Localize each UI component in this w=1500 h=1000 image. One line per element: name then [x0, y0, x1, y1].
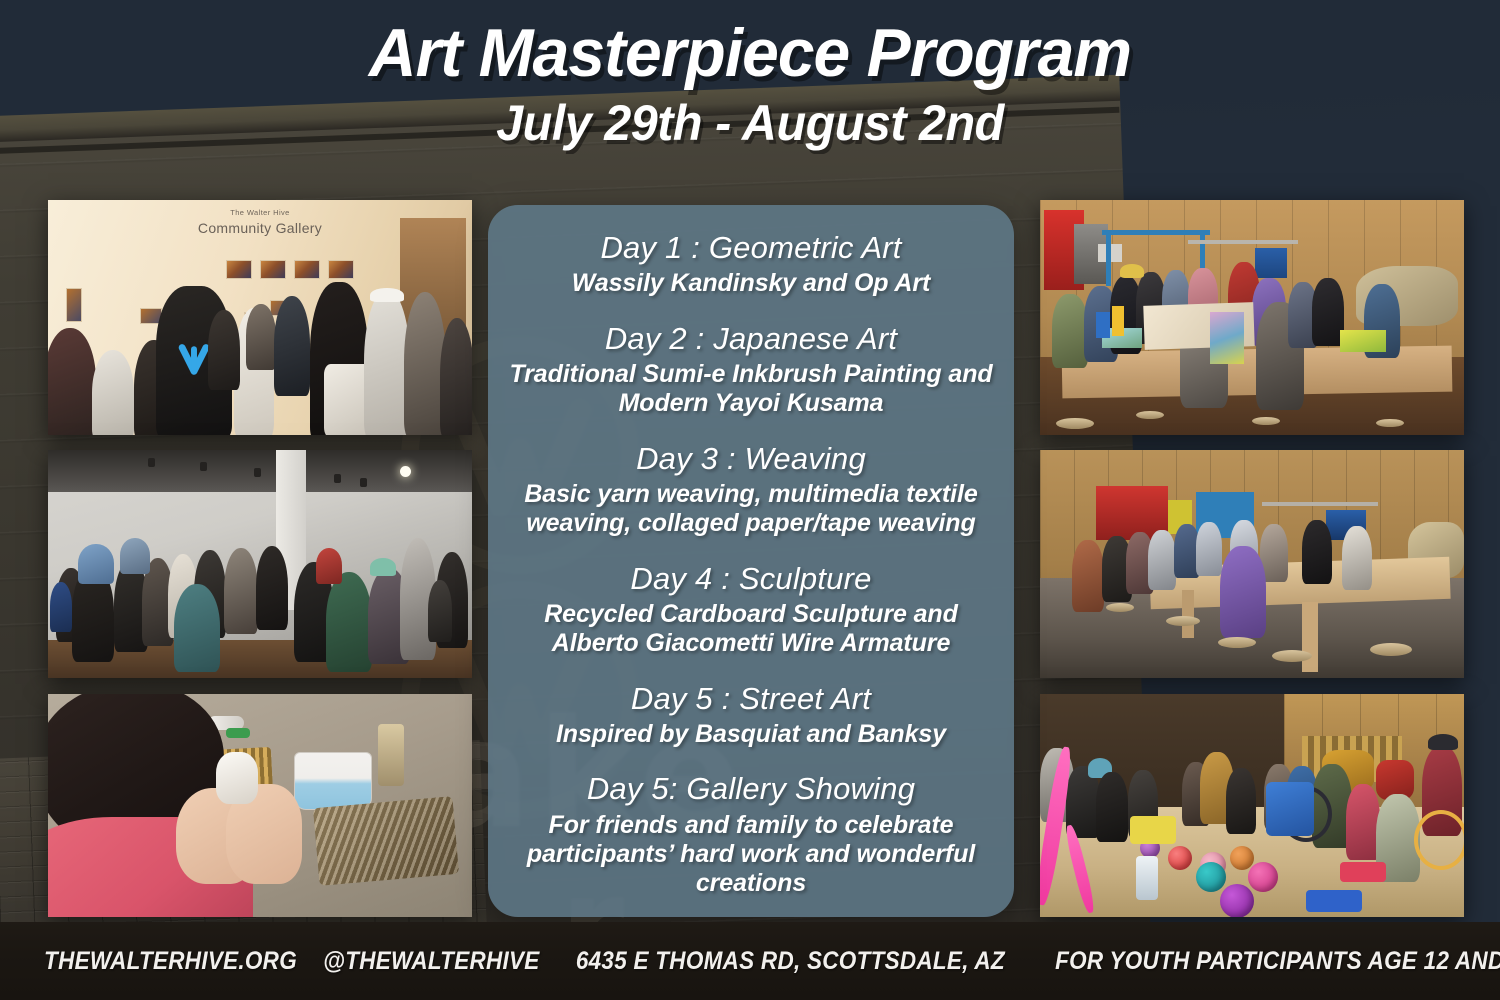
- teens-table-leg: [1302, 602, 1318, 672]
- day-1-title: Day 1 : Geometric Art: [506, 229, 996, 267]
- photo-crafting: [48, 694, 472, 917]
- crowd-person: [274, 296, 310, 396]
- kids-red-paper: [1340, 862, 1386, 882]
- day-6-description: For friends and family to celebrate part…: [506, 811, 996, 899]
- crowd-person: [246, 304, 276, 370]
- workshop-tool-chest: [1255, 248, 1287, 278]
- teens-stool: [1166, 616, 1200, 626]
- photo-teens-table: [1040, 450, 1464, 678]
- schedule-day-3: Day 3 : Weaving Basic yarn weaving, mult…: [506, 440, 996, 539]
- yarn-ball: [1248, 862, 1278, 892]
- day-3-description: Basic yarn weaving, multimedia textile w…: [506, 480, 996, 539]
- crowd-person: [208, 310, 240, 390]
- workshop-stool: [1136, 411, 1164, 419]
- audience-child: [50, 582, 72, 632]
- photo-gallery-opening: The Walter Hive Community Gallery: [48, 200, 472, 435]
- footer-bar: THEWALTERHIVE.ORG @THEWALTERHIVE 6435 E …: [0, 922, 1500, 1000]
- audience-person-headwrap: [370, 558, 396, 576]
- gallery-artwork-row: [226, 260, 354, 279]
- track-light: [360, 478, 367, 487]
- workshop-paint-bottle: [1096, 312, 1110, 338]
- white-cap: [370, 288, 404, 302]
- workshop-stool: [1252, 417, 1280, 425]
- audience-person: [78, 544, 114, 584]
- craft-plaster-bucket: [294, 752, 372, 810]
- teens-participant-purple-shirt: [1220, 546, 1266, 638]
- teens-participant: [1302, 520, 1332, 584]
- day-2-title: Day 2 : Japanese Art: [506, 320, 996, 358]
- footer-social-handle[interactable]: @THEWALTERHIVE: [323, 947, 540, 976]
- workshop-stool: [1376, 419, 1404, 427]
- track-light: [200, 462, 207, 471]
- workshop-tool-rail: [1188, 240, 1298, 244]
- photo-painting-workshop: [1040, 200, 1464, 435]
- crowd-person: [92, 350, 134, 435]
- teens-participant: [1342, 526, 1372, 590]
- craft-clay-piece: [216, 752, 258, 804]
- schedule-day-4: Day 4 : Sculpture Recycled Cardboard Scu…: [506, 560, 996, 659]
- track-light: [334, 474, 341, 483]
- workshop-painting: [1340, 330, 1386, 352]
- day-1-description: Wassily Kandinsky and Op Art: [506, 269, 996, 298]
- audience-person: [120, 538, 150, 574]
- schedule-day-6-gallery-showing: Day 5: Gallery Showing For friends and f…: [506, 770, 996, 898]
- kids-adult-cap: [1428, 734, 1458, 750]
- footer-age-requirement: FOR YOUTH PARTICIPANTS AGE 12 AND UP: [1056, 947, 1500, 976]
- embroidery-hoop: [1414, 810, 1464, 870]
- day-3-title: Day 3 : Weaving: [506, 440, 996, 478]
- yarn-ball: [1196, 862, 1226, 892]
- crowd-person: [440, 318, 472, 435]
- schedule-day-5: Day 5 : Street Art Inspired by Basquiat …: [506, 680, 996, 750]
- teens-participant: [1196, 522, 1222, 576]
- yarn-ball: [1220, 884, 1254, 917]
- flyer-canvas: ake r Art Masterpiece Program July 29th …: [0, 0, 1500, 1000]
- kids-yellow-fabric: [1130, 816, 1176, 844]
- kids-participant: [1346, 784, 1380, 860]
- craft-decorations-tray: [313, 796, 459, 886]
- water-bottle: [1136, 856, 1158, 900]
- ceiling-spotlight: [400, 466, 411, 477]
- walter-hive-shirt-logo-icon: [177, 342, 211, 382]
- schedule-day-1: Day 1 : Geometric Art Wassily Kandinsky …: [506, 229, 996, 299]
- day-6-title: Day 5: Gallery Showing: [506, 770, 996, 808]
- audience-person: [224, 548, 258, 634]
- teens-stool: [1272, 650, 1312, 662]
- gallery-sign-org-name: The Walter Hive: [230, 208, 290, 217]
- workshop-participant: [1052, 294, 1088, 368]
- track-light: [148, 458, 155, 467]
- teens-table-leg: [1182, 590, 1194, 638]
- workshop-blue-rack: [1102, 230, 1210, 235]
- workshop-stool: [1056, 418, 1094, 429]
- teens-stool: [1218, 637, 1256, 648]
- day-5-title: Day 5 : Street Art: [506, 680, 996, 718]
- craft-bottle: [378, 724, 404, 786]
- crowd-person: [48, 328, 96, 435]
- kids-participant: [1226, 768, 1256, 834]
- photo-audience: [48, 450, 472, 678]
- header: Art Masterpiece Program July 29th - Augu…: [0, 18, 1500, 150]
- kids-participant: [1096, 772, 1128, 842]
- audience-child: [428, 580, 452, 642]
- workshop-painting: [1210, 312, 1244, 364]
- teens-participant: [1072, 540, 1104, 612]
- teens-stool: [1370, 643, 1412, 656]
- audience-person: [256, 546, 288, 630]
- teens-participant: [1148, 530, 1176, 590]
- day-2-description: Traditional Sumi-e Inkbrush Painting and…: [506, 360, 996, 419]
- page-title: Art Masterpiece Program: [23, 18, 1478, 89]
- program-dates: July 29th - August 2nd: [23, 97, 1478, 150]
- day-4-description: Recycled Cardboard Sculpture and Alberto…: [506, 600, 996, 659]
- audience-person-green: [326, 572, 372, 672]
- audience-person-red: [316, 548, 342, 584]
- craft-cap: [226, 728, 250, 738]
- track-light: [254, 468, 261, 477]
- day-5-description: Inspired by Basquiat and Banksy: [506, 720, 996, 749]
- teens-tool-rail: [1262, 502, 1378, 506]
- gallery-sign-title: Community Gallery: [198, 220, 322, 236]
- gallery-artwork: [66, 288, 82, 322]
- kids-blue-paper: [1306, 890, 1362, 912]
- schedule-day-2: Day 2 : Japanese Art Traditional Sumi-e …: [506, 320, 996, 419]
- footer-website[interactable]: THEWALTERHIVE.ORG: [44, 947, 297, 976]
- teens-stool: [1106, 603, 1134, 612]
- yarn-ball: [1168, 846, 1192, 870]
- workshop-paint-bottle: [1112, 306, 1124, 336]
- kids-blue-fabric: [1266, 782, 1314, 836]
- yarn-ball: [1230, 846, 1254, 870]
- schedule-panel: Day 1 : Geometric Art Wassily Kandinsky …: [488, 205, 1014, 917]
- audience-person-teal: [174, 584, 220, 672]
- workshop-yellow-cap: [1120, 264, 1144, 278]
- day-4-title: Day 4 : Sculpture: [506, 560, 996, 598]
- workshop-rack-leg: [1106, 230, 1111, 286]
- footer-address: 6435 E THOMAS RD, SCOTTSDALE, AZ: [575, 947, 1004, 976]
- photo-kids-yarn: [1040, 694, 1464, 917]
